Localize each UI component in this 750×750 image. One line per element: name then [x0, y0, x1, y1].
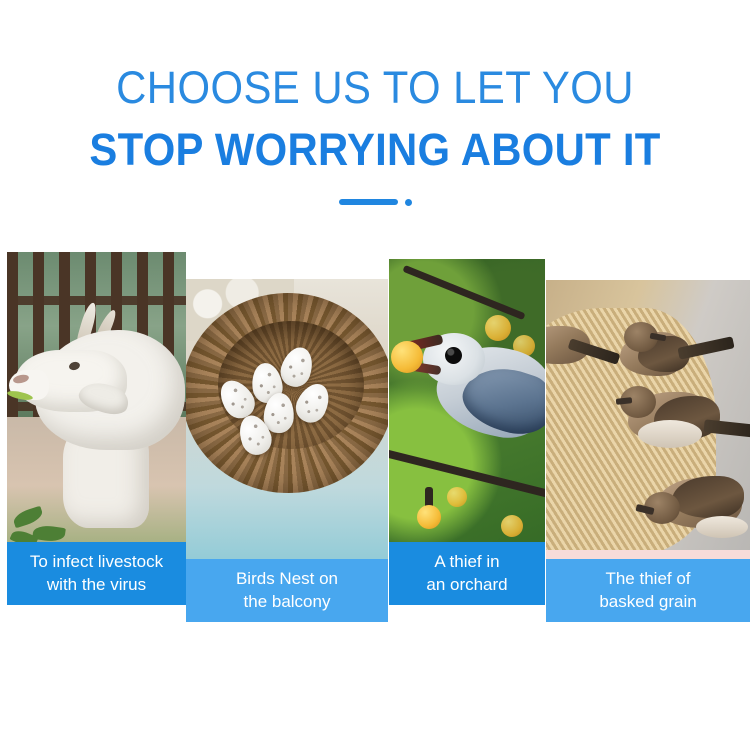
- divider: [0, 196, 750, 208]
- fruit-in-beak: [391, 341, 423, 373]
- fruit: [501, 515, 523, 537]
- promo-banner: CHOOSE US TO LET YOU STOP WORRYING ABOUT…: [0, 0, 750, 750]
- fruit: [417, 505, 441, 529]
- heading-line-1: CHOOSE US TO LET YOU: [26, 62, 724, 114]
- branch-upper: [402, 265, 525, 320]
- branch-lower: [389, 449, 545, 500]
- goat-photo: [7, 252, 186, 552]
- bird-eye: [445, 347, 462, 364]
- panel-caption: To infect livestock with the virus: [7, 542, 186, 605]
- panel-grain[interactable]: The thief of basked grain: [546, 280, 750, 622]
- fruit: [485, 315, 511, 341]
- page-title: CHOOSE US TO LET YOU STOP WORRYING ABOUT…: [0, 62, 750, 176]
- panel-caption: Birds Nest on the balcony: [186, 559, 388, 622]
- heading-line-2: STOP WORRYING ABOUT IT: [26, 124, 724, 176]
- panel-caption: A thief in an orchard: [389, 542, 545, 605]
- fruit: [447, 487, 467, 507]
- panel-livestock[interactable]: To infect livestock with the virus: [7, 252, 186, 605]
- sparrows-photo: [546, 280, 750, 550]
- orchard-bird-photo: [389, 259, 545, 552]
- nest-photo: [186, 279, 388, 568]
- divider-dot-icon: [405, 199, 412, 206]
- panel-orchard[interactable]: A thief in an orchard: [389, 259, 545, 605]
- panel-caption: The thief of basked grain: [546, 559, 750, 622]
- panel-nest[interactable]: Birds Nest on the balcony: [186, 279, 388, 622]
- fence-rail-upper: [7, 296, 186, 305]
- divider-bar: [339, 199, 398, 205]
